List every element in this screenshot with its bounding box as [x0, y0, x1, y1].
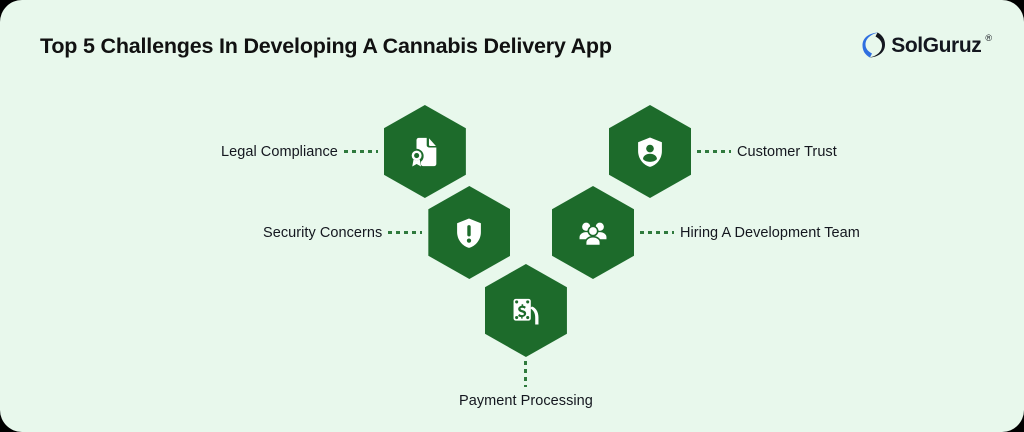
connector-dotted-payment-processing	[524, 361, 527, 387]
node-label-security-concerns: Security Concerns	[263, 225, 382, 241]
node-label-payment-processing: Payment Processing	[459, 393, 593, 409]
diagram-node-payment-processing[interactable]: Payment Processing	[459, 264, 593, 409]
node-label-customer-trust: Customer Trust	[737, 144, 837, 160]
hexagon-customer-trust[interactable]	[609, 105, 691, 198]
header: Top 5 Challenges In Developing A Cannabi…	[0, 0, 1024, 92]
hexagon-legal-compliance[interactable]	[384, 105, 466, 198]
brand-name: SolGuruz	[891, 35, 981, 56]
diagram-node-legal-compliance[interactable]: Legal Compliance	[221, 105, 466, 198]
hand-holding-money-icon	[509, 294, 543, 328]
node-label-hiring-team: Hiring A Development Team	[680, 225, 860, 241]
trademark-symbol: ®	[985, 33, 992, 43]
diagram-node-customer-trust[interactable]: Customer Trust	[609, 105, 837, 198]
node-label-legal-compliance: Legal Compliance	[221, 144, 338, 160]
solguruz-s-mark-icon	[862, 31, 888, 59]
connector-dotted-customer-trust	[697, 150, 731, 153]
connector-dotted-security-concerns	[388, 231, 422, 234]
document-certificate-icon	[408, 135, 442, 169]
infographic-card: Top 5 Challenges In Developing A Cannabi…	[0, 0, 1024, 432]
people-group-icon	[576, 216, 610, 250]
hexagon-diagram: Legal Compliance	[0, 92, 1024, 432]
connector-dotted-hiring-team	[640, 231, 674, 234]
brand-logo: SolGuruz ®	[862, 31, 992, 59]
connector-dotted-legal-compliance	[344, 150, 378, 153]
shield-exclamation-icon	[452, 216, 486, 250]
diagram-node-hiring-team[interactable]: Hiring A Development Team	[552, 186, 860, 279]
shield-person-icon	[633, 135, 667, 169]
page-title: Top 5 Challenges In Developing A Cannabi…	[40, 34, 612, 59]
hexagon-payment-processing[interactable]	[485, 264, 567, 357]
